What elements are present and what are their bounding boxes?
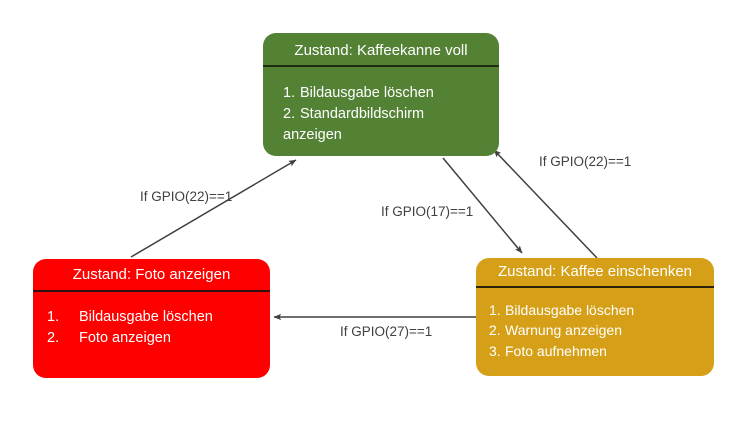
state-actions: 1.Bildausgabe löschen 2.Warnung anzeigen… (489, 300, 708, 361)
action-text: Bildausgabe löschen (505, 302, 634, 318)
action-number: 1. (489, 300, 505, 320)
state-action-item: 1.Bildausgabe löschen (47, 307, 264, 328)
transition-label-einschenken-to-foto: If GPIO(27)==1 (340, 324, 432, 339)
title-divider (33, 290, 270, 292)
title-divider (263, 65, 499, 67)
action-number: 2. (283, 104, 300, 125)
action-text: Warnung anzeigen (505, 322, 622, 338)
action-text: Bildausgabe löschen (300, 85, 434, 101)
state-action-item: anzeigen (283, 125, 491, 146)
transition-label-foto-to-voll: If GPIO(22)==1 (140, 189, 232, 204)
action-number: 2. (489, 320, 505, 340)
transition-label-voll-to-einschenken: If GPIO(17)==1 (381, 204, 473, 219)
state-title: Zustand: Kaffeekanne voll (263, 43, 499, 60)
state-box-kaffee-einschenken[interactable]: Zustand: Kaffee einschenken 1.Bildausgab… (476, 258, 714, 376)
action-text: Bildausgabe löschen (79, 309, 213, 325)
state-title: Zustand: Kaffee einschenken (476, 264, 714, 281)
state-actions: 1.Bildausgabe löschen 2.Foto anzeigen (47, 307, 264, 349)
action-text: Standardbildschirm (300, 106, 424, 122)
state-box-foto-anzeigen[interactable]: Zustand: Foto anzeigen 1.Bildausgabe lös… (33, 259, 270, 378)
state-action-item: 1.Bildausgabe löschen (283, 83, 491, 104)
action-number: 2. (47, 328, 79, 349)
diagram-canvas: Zustand: Kaffeekanne voll 1.Bildausgabe … (0, 0, 750, 436)
state-action-item: 1.Bildausgabe löschen (489, 300, 708, 320)
title-divider (476, 286, 714, 288)
action-number: 1. (283, 83, 300, 104)
state-title: Zustand: Foto anzeigen (33, 267, 270, 284)
transition-label-einschenken-to-voll: If GPIO(22)==1 (539, 154, 631, 169)
action-number: 1. (47, 307, 79, 328)
transition-arrow-foto-to-voll (131, 160, 296, 257)
state-actions: 1.Bildausgabe löschen 2.Standardbildschi… (283, 83, 491, 146)
action-text: Foto aufnehmen (505, 343, 607, 359)
action-text: Foto anzeigen (79, 330, 171, 346)
state-action-item: 2.Standardbildschirm (283, 104, 491, 125)
state-action-item: 2.Foto anzeigen (47, 328, 264, 349)
state-action-item: 3.Foto aufnehmen (489, 341, 708, 361)
action-number: 3. (489, 341, 505, 361)
state-box-kaffeekanne-voll[interactable]: Zustand: Kaffeekanne voll 1.Bildausgabe … (263, 33, 499, 156)
action-text: anzeigen (283, 127, 342, 143)
state-action-item: 2.Warnung anzeigen (489, 320, 708, 340)
